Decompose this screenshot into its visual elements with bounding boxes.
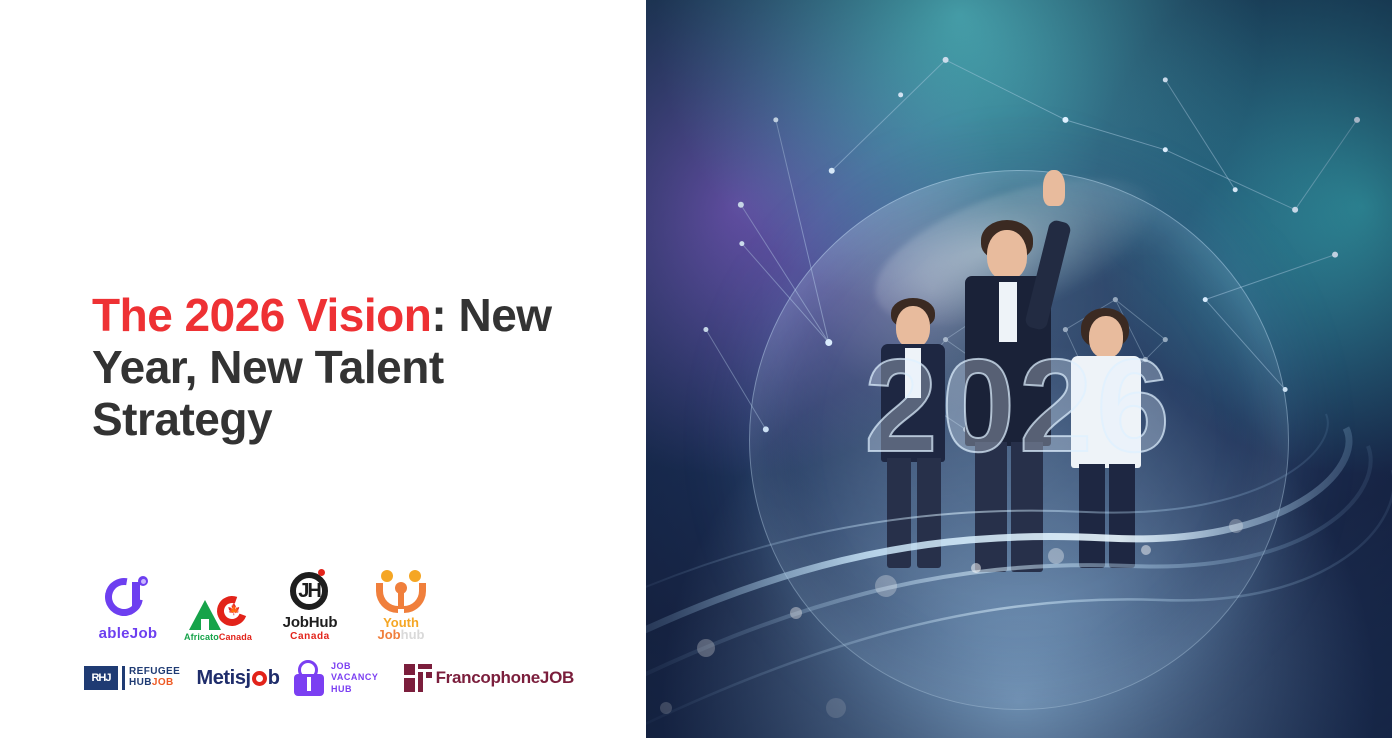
job-vacancy-hub-line2: VACANCY bbox=[331, 672, 378, 683]
partner-logo-row-1: ableJob 🍁 AfricatoCanada JH bbox=[84, 566, 604, 642]
francophonejob-wordmark: FrancophoneJOB bbox=[436, 668, 574, 688]
job-vacancy-hub-person-icon bbox=[292, 660, 326, 696]
logo-africatocanada[interactable]: 🍁 AfricatoCanada bbox=[172, 594, 264, 642]
youth-jobhub-word2: Jobhub bbox=[378, 627, 425, 642]
job-vacancy-hub-line3: HUB bbox=[331, 684, 378, 695]
africatocanada-mark-icon: 🍁 bbox=[187, 594, 249, 630]
logo-youth-jobhub[interactable]: Youth Jobhub bbox=[356, 570, 446, 642]
metisjob-o-icon bbox=[252, 671, 267, 686]
logo-ablejob[interactable]: ableJob bbox=[84, 576, 172, 642]
francophonejob-mark-icon bbox=[404, 664, 430, 692]
africatocanada-word-red: Canada bbox=[219, 632, 252, 642]
logo-francophonejob[interactable]: FrancophoneJOB bbox=[404, 664, 574, 692]
promotional-banner: The 2026 Vision: New Year, New Talent St… bbox=[0, 0, 1392, 738]
logo-metisjob[interactable]: Metisjb bbox=[184, 667, 292, 690]
youth-jobhub-mark-icon bbox=[376, 570, 426, 614]
logo-job-vacancy-hub[interactable]: JOB VACANCY HUB bbox=[292, 660, 404, 696]
hero-vignette-overlay bbox=[646, 0, 1392, 738]
jobhub-subtitle: Canada bbox=[290, 631, 330, 642]
jobhub-wordmark: JobHub bbox=[283, 614, 338, 631]
refugee-hub-badge-text: RHJ bbox=[91, 672, 110, 684]
ablejob-mark-icon bbox=[105, 576, 151, 622]
metisjob-word-pre: Metisj bbox=[196, 667, 250, 690]
page-title: The 2026 Vision: New Year, New Talent St… bbox=[92, 290, 622, 446]
refugee-hub-line2a: HUB bbox=[129, 677, 152, 688]
logo-jobhub-canada[interactable]: JH JobHub Canada bbox=[264, 569, 356, 642]
metisjob-word-post: b bbox=[268, 667, 280, 690]
hero-image: 2026 bbox=[646, 0, 1392, 738]
youth-jobhub-word2a: Job bbox=[378, 627, 401, 642]
refugee-hub-divider bbox=[122, 666, 125, 690]
jobhub-monogram: JH bbox=[287, 572, 331, 610]
job-vacancy-hub-line1: JOB bbox=[331, 661, 378, 672]
africatocanada-word-green: Africato bbox=[184, 632, 219, 642]
jobhub-mark-icon: JH bbox=[287, 569, 333, 613]
partner-logo-wall: ableJob 🍁 AfricatoCanada JH bbox=[84, 566, 604, 700]
headline-accent: The 2026 Vision bbox=[92, 289, 431, 341]
partner-logo-row-2: RHJ REFUGEE HUBJOB Metisjb bbox=[84, 656, 604, 700]
metisjob-wordmark: Metisjb bbox=[196, 667, 279, 690]
ablejob-wordmark: ableJob bbox=[99, 625, 158, 642]
youth-jobhub-word2b: hub bbox=[401, 627, 425, 642]
refugee-hub-line2b: JOB bbox=[152, 677, 174, 688]
refugee-hub-badge-icon: RHJ bbox=[84, 666, 118, 690]
refugee-hub-line2: HUBJOB bbox=[129, 678, 180, 689]
africatocanada-wordmark: AfricatoCanada bbox=[184, 632, 252, 642]
left-content-panel: The 2026 Vision: New Year, New Talent St… bbox=[0, 0, 646, 738]
logo-refugee-hub-job[interactable]: RHJ REFUGEE HUBJOB bbox=[84, 666, 184, 690]
